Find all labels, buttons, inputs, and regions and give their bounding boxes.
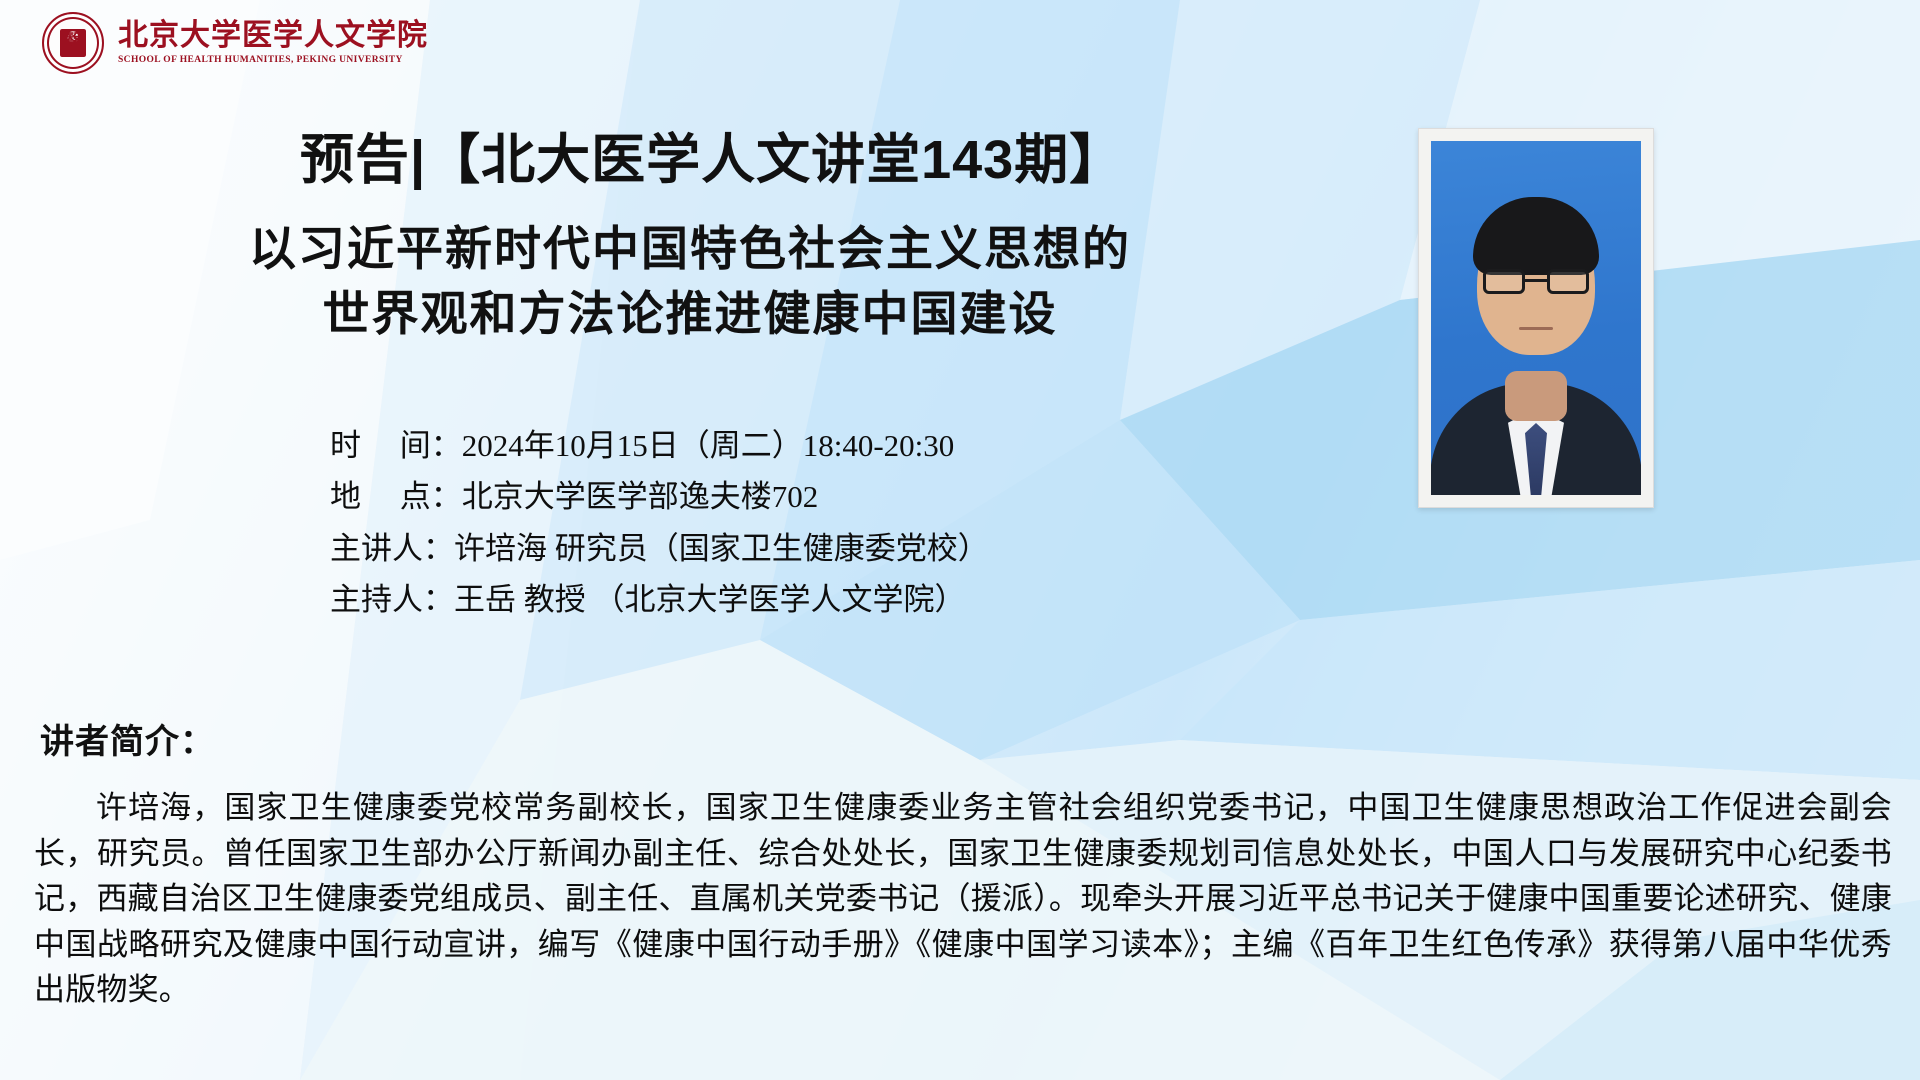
event-host-value: 王岳 教授 （北京大学医学人文学院） bbox=[454, 582, 966, 617]
event-speaker-label: 主讲人： bbox=[330, 531, 454, 566]
event-time-label: 时 间： bbox=[330, 428, 462, 463]
event-speaker-row: 主讲人：许培海 研究员（国家卫生健康委党校） bbox=[330, 523, 989, 574]
event-place-value: 北京大学医学部逸夫楼702 bbox=[462, 479, 819, 514]
brand-text: 北京大学医学人文学院 SCHOOL OF HEALTH HUMANITIES, … bbox=[118, 21, 428, 65]
event-details: 时 间：2024年10月15日（周二）18:40-20:30 地 点：北京大学医… bbox=[330, 420, 989, 626]
bio-heading: 讲者简介： bbox=[40, 714, 215, 763]
speaker-portrait bbox=[1431, 141, 1641, 495]
glasses-icon bbox=[1483, 269, 1589, 295]
portrait-neck bbox=[1505, 371, 1567, 421]
poster-root: 醫 北京大学医学人文学院 SCHOOL OF HEALTH HUMANITIES… bbox=[0, 0, 1920, 1080]
glasses-lens-left bbox=[1483, 269, 1525, 294]
event-time-value: 2024年10月15日（周二）18:40-20:30 bbox=[462, 428, 955, 463]
bio-body: 许培海，国家卫生健康委党校常务副校长，国家卫生健康委业务主管社会组织党委书记，中… bbox=[34, 786, 1892, 1014]
event-host-label: 主持人： bbox=[330, 582, 454, 617]
subtitle-line-1: 以习近平新时代中国特色社会主义思想的 bbox=[249, 222, 1131, 277]
event-place-row: 地 点：北京大学医学部逸夫楼702 bbox=[330, 471, 989, 522]
seal-glyph: 醫 bbox=[44, 33, 102, 52]
subtitle-line-2: 世界观和方法论推进健康中国建设 bbox=[150, 283, 1230, 348]
event-place-label: 地 点： bbox=[330, 479, 462, 514]
brand-name-en: SCHOOL OF HEALTH HUMANITIES, PEKING UNIV… bbox=[118, 55, 428, 65]
page-subtitle: 以习近平新时代中国特色社会主义思想的 世界观和方法论推进健康中国建设 bbox=[150, 218, 1230, 348]
brand-name-cn: 北京大学医学人文学院 bbox=[118, 21, 428, 52]
event-host-row: 主持人：王岳 教授 （北京大学医学人文学院） bbox=[330, 574, 989, 625]
event-speaker-value: 许培海 研究员（国家卫生健康委党校） bbox=[454, 531, 989, 566]
portrait-hair bbox=[1473, 197, 1599, 275]
peking-university-seal-icon: 醫 bbox=[42, 12, 104, 74]
page-title: 预告|【北大医学人文讲堂143期】 bbox=[300, 115, 1124, 194]
brand-logo: 醫 北京大学医学人文学院 SCHOOL OF HEALTH HUMANITIES… bbox=[42, 12, 428, 74]
event-time-row: 时 间：2024年10月15日（周二）18:40-20:30 bbox=[330, 420, 989, 471]
glasses-lens-right bbox=[1547, 269, 1589, 294]
speaker-portrait-frame bbox=[1418, 128, 1654, 508]
portrait-mouth bbox=[1519, 327, 1553, 330]
glasses-bridge bbox=[1525, 279, 1547, 282]
